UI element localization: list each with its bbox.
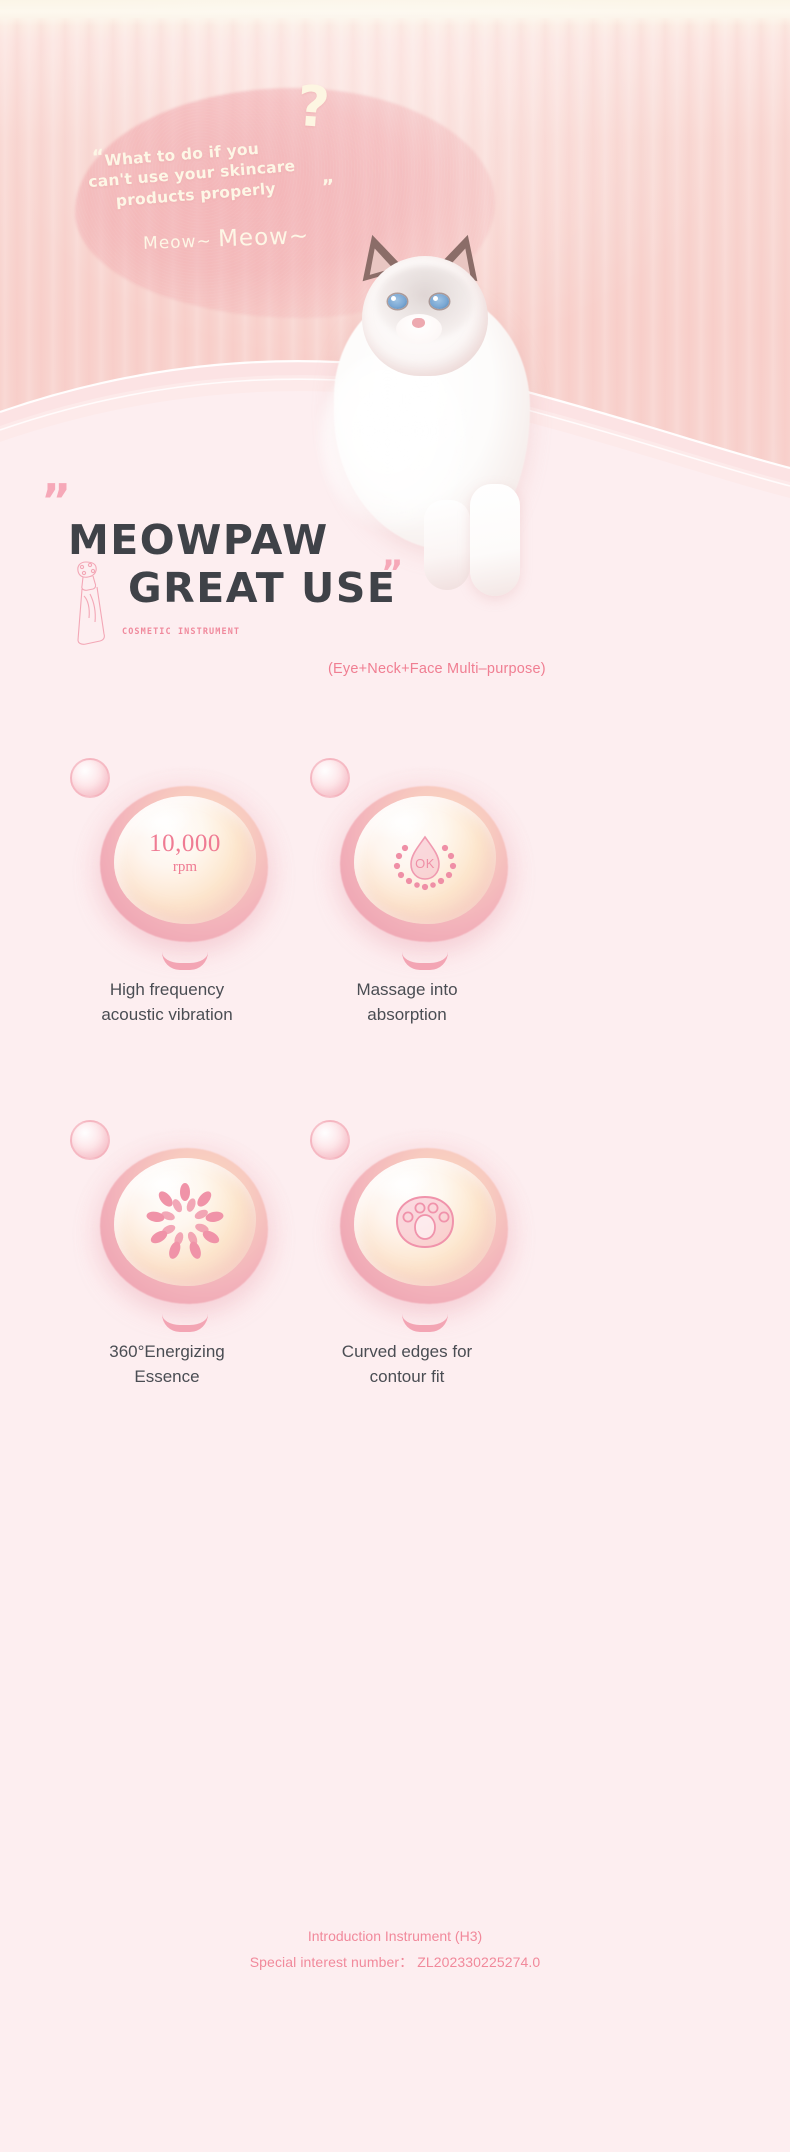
- device-outline-icon: [70, 556, 114, 646]
- rpm-value: 10,000 rpm: [114, 830, 256, 876]
- feature-row-2: 360°Energizing Essence: [0, 1112, 790, 1432]
- ok-droplet-icon: OK: [379, 821, 471, 899]
- rotating-petals-icon: [142, 1179, 228, 1265]
- feature-grid: 10,000 rpm High frequency acoustic vibra…: [0, 750, 790, 1432]
- feature-caption-curved-edges: Curved edges for contour fit: [262, 1340, 552, 1389]
- footer-patent-number: Special interest number： ZL202330225274.…: [0, 1950, 790, 1976]
- icon-holder: [114, 1158, 256, 1286]
- ok-droplet-text: OK: [415, 856, 435, 871]
- brand-title-line2: GREAT USE: [128, 564, 396, 612]
- cat-eye-highlight-left: [391, 296, 396, 301]
- cat-paw-back: [424, 500, 470, 590]
- rpm-unit: rpm: [114, 859, 256, 876]
- icon-holder: [354, 1158, 496, 1286]
- feature-caption-massage-absorption: Massage into absorption: [262, 978, 552, 1027]
- small-bubble-icon: [70, 758, 110, 798]
- meow-big: Meow~: [218, 223, 310, 252]
- small-bubble-icon: [70, 1120, 110, 1160]
- feature-row-1: 10,000 rpm High frequency acoustic vibra…: [0, 750, 790, 1070]
- cat-paw-icon: [383, 1185, 467, 1259]
- footer-product-name: Introduction Instrument (H3): [0, 1924, 790, 1950]
- icon-holder: OK: [354, 796, 496, 924]
- feature-card-curved-edges[interactable]: Curved edges for contour fit: [262, 1112, 552, 1432]
- product-detail-page: ? “ ” What to do if you can't use your s…: [0, 0, 790, 2152]
- footer-info: Introduction Instrument (H3) Special int…: [0, 1924, 790, 1976]
- meow-small: Meow~: [143, 232, 212, 254]
- multi-purpose-label: (Eye+Neck+Face Multi–purpose): [328, 661, 546, 677]
- caption-line1: Curved edges for: [262, 1340, 552, 1365]
- brand-quote-close: ”: [381, 562, 401, 586]
- rpm-number: 10,000: [114, 830, 256, 858]
- cat-nose: [412, 318, 425, 328]
- question-mark-icon: ?: [295, 79, 331, 137]
- cat-eye-highlight-right: [433, 296, 438, 301]
- cat-paw-front: [470, 484, 520, 596]
- orb-smile-shadow: [402, 952, 448, 970]
- brand-quote-open: ”: [41, 485, 69, 517]
- caption-line1: Massage into: [262, 978, 552, 1003]
- caption-line2: absorption: [262, 1003, 552, 1028]
- caption-line2: contour fit: [262, 1365, 552, 1390]
- orb-smile-shadow: [402, 1314, 448, 1332]
- feature-card-massage-absorption[interactable]: OK Mas: [262, 750, 552, 1070]
- cosmetic-instrument-label: COSMETIC INSTRUMENT: [122, 627, 240, 637]
- orb-smile-shadow: [162, 952, 208, 970]
- orb-smile-shadow: [162, 1314, 208, 1332]
- small-bubble-icon: [310, 1120, 350, 1160]
- small-bubble-icon: [310, 758, 350, 798]
